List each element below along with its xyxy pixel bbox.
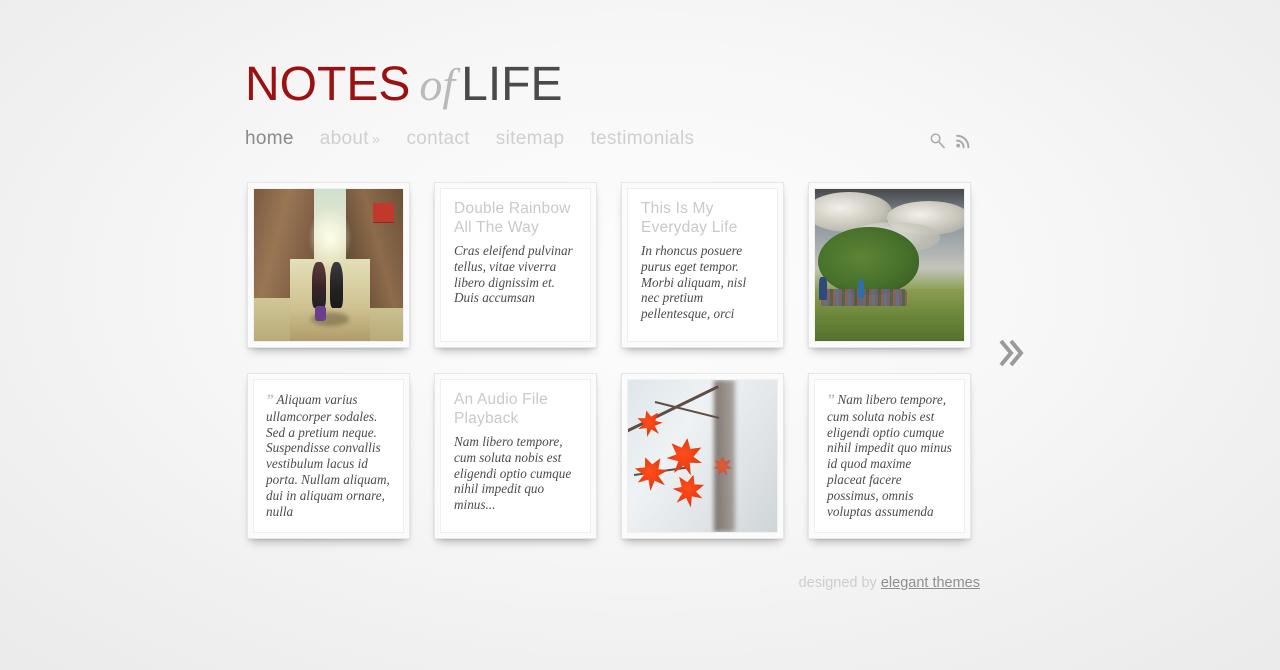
card-inner: ”Aliquam varius ullamcorper sodales. Sed… (253, 379, 404, 533)
card-inner (814, 188, 965, 342)
quote-mark-icon: ” (266, 392, 277, 408)
site-logo[interactable]: NOTESofLIFE (245, 57, 563, 113)
main-navigation: home about» contact sitemap testimonials (245, 126, 694, 153)
rss-icon[interactable] (955, 132, 972, 149)
logo-word-of: of (410, 59, 461, 110)
footer-credit: designed by elegant themes (799, 573, 980, 593)
post-card-audio-file[interactable]: An Audio File Playback Nam libero tempor… (434, 373, 597, 539)
card-inner (627, 379, 778, 533)
card-inner: An Audio File Playback Nam libero tempor… (440, 379, 591, 533)
photo-light-glow (308, 207, 353, 268)
nav-item-about-label: about (320, 128, 369, 149)
photo-purple-bag (315, 306, 325, 321)
photo-standing-person (819, 277, 826, 300)
next-page-button[interactable] (998, 338, 1024, 373)
post-card-tree-photo[interactable] (808, 182, 971, 348)
footer-designed-by-label: designed by (799, 575, 881, 591)
post-quote: ”Nam libero tempore, cum soluta nobis es… (827, 392, 953, 519)
nav-item-testimonials[interactable]: testimonials (590, 126, 694, 152)
nav-item-home-label: home (245, 128, 294, 149)
chevron-double-right-icon (998, 338, 1024, 368)
tree-photo (815, 189, 964, 341)
photo-seated-crowd (821, 289, 907, 306)
photo-blurred-trunk (714, 380, 735, 532)
street-photo (254, 189, 403, 341)
post-card-double-rainbow[interactable]: Double Rainbow All The Way Cras eleifend… (434, 182, 597, 348)
quote-mark-icon: ” (827, 392, 838, 408)
nav-item-about[interactable]: about» (320, 126, 394, 153)
card-inner (253, 188, 404, 342)
chevron-double-right-icon: » (369, 131, 381, 148)
post-card-maple-photo[interactable] (621, 373, 784, 539)
post-card-everyday-life[interactable]: This Is My Everyday Life In rhoncus posu… (621, 182, 784, 348)
search-icon[interactable] (929, 132, 946, 149)
nav-item-home[interactable]: home (245, 126, 307, 152)
post-excerpt: Cras eleifend pulvinar tellus, vitae viv… (454, 243, 578, 306)
card-inner: ”Nam libero tempore, cum soluta nobis es… (814, 379, 965, 533)
post-quote-text: Aliquam varius ullamcorper sodales. Sed … (266, 392, 390, 519)
post-card-street-photo[interactable] (247, 182, 410, 348)
logo-word-notes: NOTES (245, 58, 410, 111)
post-title: This Is My Everyday Life (641, 200, 765, 237)
post-title: An Audio File Playback (454, 391, 578, 428)
nav-item-testimonials-label: testimonials (590, 128, 694, 149)
photo-maple-leaf (669, 470, 709, 510)
card-inner: This Is My Everyday Life In rhoncus posu… (627, 188, 778, 342)
nav-item-sitemap[interactable]: sitemap (496, 126, 578, 152)
post-quote: ”Aliquam varius ullamcorper sodales. Sed… (266, 392, 392, 519)
post-title: Double Rainbow All The Way (454, 200, 578, 237)
photo-red-sign (373, 203, 394, 223)
maple-photo (628, 380, 777, 532)
post-grid: Double Rainbow All The Way Cras eleifend… (247, 182, 971, 539)
nav-item-contact-label: contact (406, 128, 469, 149)
post-excerpt: Nam libero tempore, cum soluta nobis est… (454, 434, 578, 513)
post-excerpt: In rhoncus posuere purus eget tempor. Mo… (641, 243, 765, 322)
photo-figure-two (330, 262, 343, 308)
photo-tree-canopy (818, 227, 919, 295)
card-inner: Double Rainbow All The Way Cras eleifend… (440, 188, 591, 342)
page-root: NOTESofLIFE home about» contact sitemap … (0, 0, 1280, 670)
photo-figure-one (312, 262, 325, 308)
nav-item-sitemap-label: sitemap (496, 128, 565, 149)
header-icon-group (929, 132, 972, 149)
photo-standing-person (858, 279, 864, 299)
post-card-quote-nam-libero[interactable]: ”Nam libero tempore, cum soluta nobis es… (808, 373, 971, 539)
nav-item-contact[interactable]: contact (406, 126, 482, 152)
footer-brand-link[interactable]: elegant themes (881, 575, 980, 591)
logo-word-life: LIFE (461, 58, 562, 111)
post-card-quote-aliquam[interactable]: ”Aliquam varius ullamcorper sodales. Sed… (247, 373, 410, 539)
post-quote-text: Nam libero tempore, cum soluta nobis est… (827, 392, 952, 519)
